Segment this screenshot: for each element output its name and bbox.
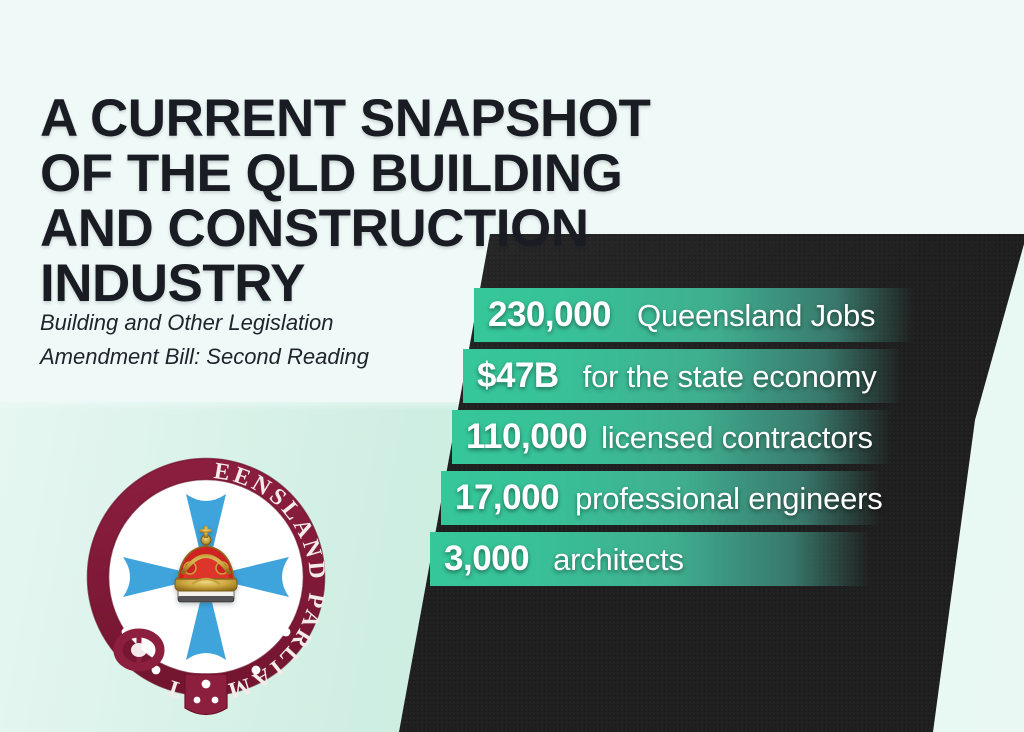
belt-strap-end bbox=[185, 674, 227, 715]
stat-value: 230,000 bbox=[488, 295, 611, 335]
stat-label: licensed contractors bbox=[601, 420, 873, 456]
infographic-poster: A CURRENT SNAPSHOT OF THE QLD BUILDING A… bbox=[0, 0, 1024, 732]
stat-value: $47B bbox=[477, 356, 559, 396]
stat-content: 230,000 Queensland Jobs bbox=[474, 295, 875, 335]
stat-value: 110,000 bbox=[466, 417, 587, 457]
stat-value: 17,000 bbox=[455, 478, 559, 518]
stat-value: 3,000 bbox=[444, 539, 529, 579]
stat-row: $47B for the state economy bbox=[463, 349, 877, 403]
stat-label: professional engineers bbox=[575, 481, 883, 517]
stat-label: architects bbox=[553, 542, 684, 578]
stat-content: 17,000 professional engineers bbox=[441, 478, 883, 518]
stat-row: 110,000 licensed contractors bbox=[452, 410, 873, 464]
stat-label: Queensland Jobs bbox=[637, 298, 875, 334]
stat-row: 17,000 professional engineers bbox=[441, 471, 883, 525]
stat-label: for the state economy bbox=[583, 359, 877, 395]
queensland-parliament-crest-icon: QUEENSLAND PARLIAMENT bbox=[70, 446, 342, 718]
stat-content: $47B for the state economy bbox=[463, 356, 877, 396]
stat-row: 3,000 architects bbox=[430, 532, 684, 586]
stat-row: 230,000 Queensland Jobs bbox=[474, 288, 875, 342]
stat-content: 3,000 architects bbox=[430, 539, 684, 579]
stat-content: 110,000 licensed contractors bbox=[452, 417, 873, 457]
